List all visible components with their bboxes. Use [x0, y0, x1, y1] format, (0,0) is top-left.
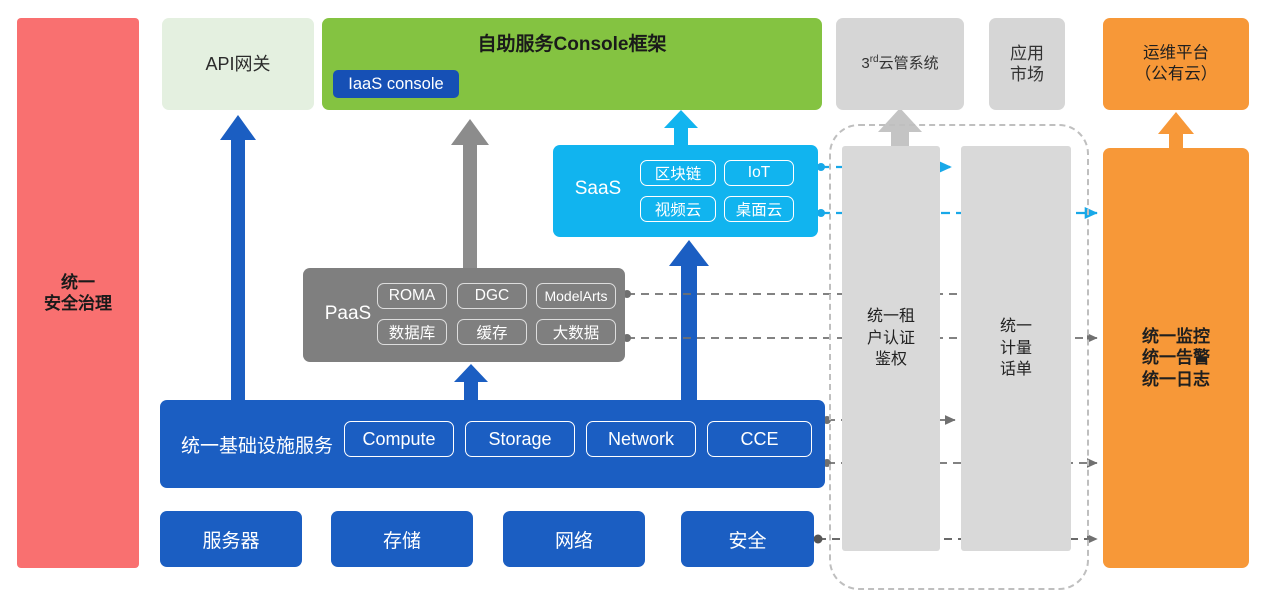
- saas-item-iot[interactable]: IoT: [724, 160, 794, 186]
- governance-line2: 安全治理: [44, 293, 112, 314]
- saas-item-video-cloud[interactable]: 视频云: [640, 196, 716, 222]
- paas-item-cache[interactable]: 缓存: [457, 319, 527, 345]
- paas-layer-label: PaaS: [313, 303, 383, 325]
- arrow-shared-to-thirdcloud: [878, 108, 922, 146]
- ops-main-line3: 统一日志: [1142, 369, 1210, 390]
- api-gateway-label: API网关: [205, 53, 270, 76]
- saas-item-desktop-cloud[interactable]: 桌面云: [724, 196, 794, 222]
- third-party-cloud-management-system[interactable]: 3rd云管系统: [836, 18, 964, 110]
- paas-item-bigdata[interactable]: 大数据: [536, 319, 616, 345]
- arrow-infra-to-paas: [454, 364, 488, 400]
- infrastructure-label: 统一基础设施服务: [172, 424, 342, 464]
- app-market-line1: 应用: [1010, 43, 1044, 64]
- paas-item-dgc[interactable]: DGC: [457, 283, 527, 309]
- application-market[interactable]: 应用 市场: [989, 18, 1065, 110]
- ops-main-line1: 统一监控: [1142, 326, 1210, 347]
- infra-item-compute[interactable]: Compute: [344, 421, 454, 457]
- ops-main-line2: 统一告警: [1142, 347, 1210, 368]
- paas-item-modelarts[interactable]: ModelArts: [536, 283, 616, 309]
- shared-service-auth[interactable]: 统一租 户认证 鉴权: [842, 146, 940, 551]
- metering-line1: 统一: [1000, 316, 1032, 338]
- infra-item-network[interactable]: Network: [586, 421, 696, 457]
- ops-platform-public-cloud[interactable]: 运维平台 （公有云）: [1103, 18, 1249, 110]
- unified-security-governance[interactable]: 统一 安全治理: [17, 18, 139, 568]
- arrow-infra-to-saas: [669, 240, 709, 400]
- hardware-network[interactable]: 网络: [503, 511, 645, 567]
- hardware-server[interactable]: 服务器: [160, 511, 302, 567]
- arrow-opsmain-to-opstop: [1158, 112, 1194, 148]
- paas-item-roma[interactable]: ROMA: [377, 283, 447, 309]
- arrow-saas-to-console: [664, 110, 698, 145]
- iaas-console-button[interactable]: IaaS console: [333, 70, 459, 98]
- app-market-line2: 市场: [1010, 64, 1044, 85]
- shared-service-metering[interactable]: 统一 计量 话单: [961, 146, 1071, 551]
- third-cloud-label: 3rd云管系统: [861, 54, 938, 74]
- arrow-infra-to-apigw: [220, 115, 256, 400]
- auth-line1: 统一租: [867, 306, 915, 328]
- auth-line3: 鉴权: [867, 349, 915, 371]
- hardware-security[interactable]: 安全: [681, 511, 814, 567]
- auth-line2: 户认证: [867, 328, 915, 350]
- paas-item-database[interactable]: 数据库: [377, 319, 447, 345]
- saas-layer-label: SaaS: [563, 178, 633, 200]
- ops-top-line1: 运维平台: [1135, 43, 1218, 64]
- metering-line3: 话单: [1000, 359, 1032, 381]
- ops-top-line2: （公有云）: [1135, 64, 1218, 85]
- saas-item-blockchain[interactable]: 区块链: [640, 160, 716, 186]
- console-frame-title: 自助服务Console框架: [322, 28, 822, 56]
- ops-platform-capabilities[interactable]: 统一监控 统一告警 统一日志: [1103, 148, 1249, 568]
- metering-line2: 计量: [1000, 338, 1032, 360]
- architecture-diagram: 统一租 户认证 鉴权 统一 计量 话单 统一 安全治理 API网关 自助服务Co…: [0, 0, 1265, 605]
- governance-line1: 统一: [44, 272, 112, 293]
- infra-item-cce[interactable]: CCE: [707, 421, 812, 457]
- infra-item-storage[interactable]: Storage: [465, 421, 575, 457]
- api-gateway-box[interactable]: API网关: [162, 18, 314, 110]
- dashed-paas-to-auth: [623, 290, 1018, 298]
- arrow-paas-to-console: [451, 119, 489, 268]
- hardware-storage[interactable]: 存储: [331, 511, 473, 567]
